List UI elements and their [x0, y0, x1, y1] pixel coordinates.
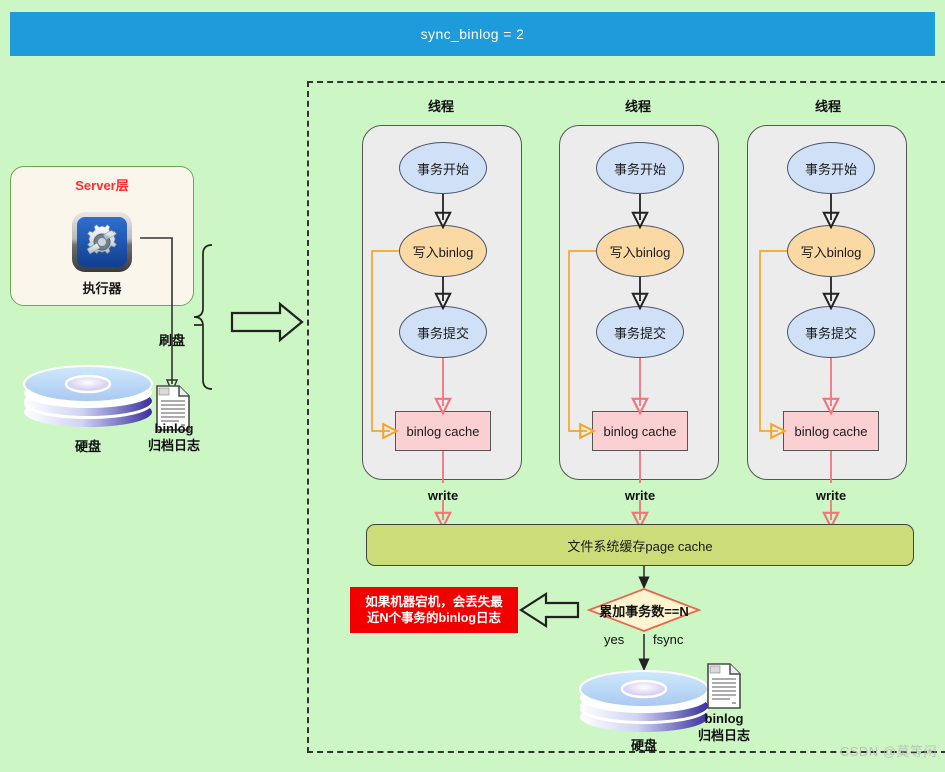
warning-text-line2: 近N个事务的binlog日志	[365, 610, 503, 626]
page-cache-label: 文件系统缓存page cache	[567, 536, 712, 555]
warning-text-line1: 如果机器宕机，会丢失最	[365, 594, 503, 610]
thread-label-2: 线程	[578, 96, 698, 115]
node-write-binlog-2: 写入binlog	[596, 225, 684, 277]
node-transaction-start-3: 事务开始	[787, 142, 875, 194]
flush-label: 刷盘	[142, 330, 202, 349]
write-label-3: write	[801, 488, 861, 503]
server-layer-box: Server层	[10, 166, 194, 306]
warning-text: 如果机器宕机，会丢失最 近N个事务的binlog日志	[365, 594, 503, 626]
node-transaction-start-1: 事务开始	[399, 142, 487, 194]
header-bar: sync_binlog = 2	[10, 12, 935, 56]
write-label-1: write	[413, 488, 473, 503]
executor-label: 执行器	[11, 278, 193, 297]
page-cache-box: 文件系统缓存page cache	[366, 524, 914, 566]
disk-stack-icon	[22, 360, 154, 428]
node-binlog-cache-1: binlog cache	[395, 411, 491, 451]
branch-label-fsync: fsync	[653, 632, 683, 647]
gear-icon	[71, 211, 133, 273]
node-transaction-commit-2: 事务提交	[596, 306, 684, 358]
bottom-binlog-doc-label-line2: 归档日志	[678, 727, 770, 744]
server-layer-title: Server层	[11, 175, 193, 194]
branch-label-yes: yes	[604, 632, 624, 647]
node-transaction-commit-3: 事务提交	[787, 306, 875, 358]
thread-label-3: 线程	[768, 96, 888, 115]
decision-label: 累加事务数==N	[568, 601, 720, 620]
node-binlog-cache-3: binlog cache	[783, 411, 879, 451]
binlog-doc-label-line1: binlog	[128, 420, 220, 437]
write-label-2: write	[610, 488, 670, 503]
binlog-doc-label: binlog 归档日志	[128, 420, 220, 454]
header-title: sync_binlog = 2	[421, 26, 525, 42]
warning-box: 如果机器宕机，会丢失最 近N个事务的binlog日志	[350, 587, 518, 633]
watermark: CSDN @莫等闲	[840, 741, 937, 760]
node-write-binlog-1: 写入binlog	[399, 225, 487, 277]
node-transaction-start-2: 事务开始	[596, 142, 684, 194]
bottom-binlog-doc-label-line1: binlog	[678, 710, 770, 727]
bottom-document-log-icon	[706, 663, 742, 709]
bottom-binlog-doc-label: binlog 归档日志	[678, 710, 770, 744]
binlog-doc-label-line2: 归档日志	[128, 437, 220, 454]
node-transaction-commit-1: 事务提交	[399, 306, 487, 358]
diagram-canvas: sync_binlog = 2 Server层	[0, 0, 945, 772]
node-binlog-cache-2: binlog cache	[592, 411, 688, 451]
node-write-binlog-3: 写入binlog	[787, 225, 875, 277]
thread-label-1: 线程	[381, 96, 501, 115]
